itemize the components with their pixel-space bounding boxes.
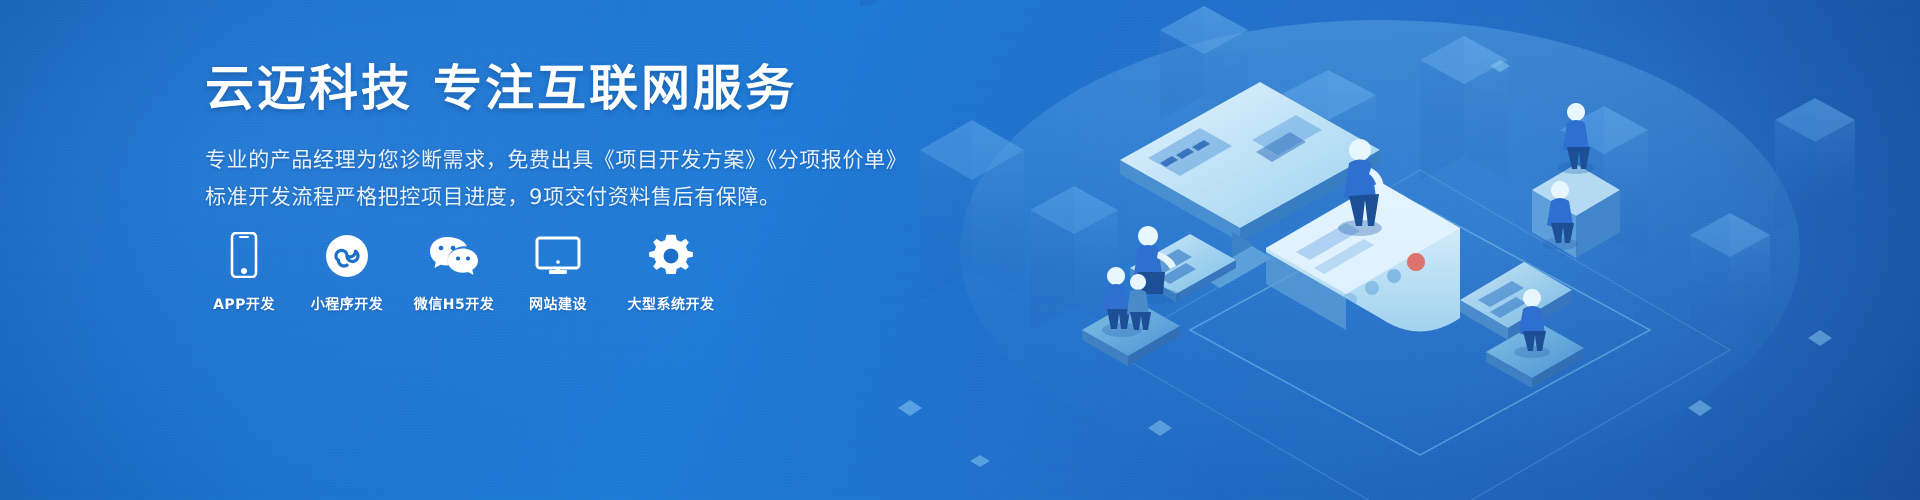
hero-banner: 云迈科技 专注互联网服务 专业的产品经理为您诊断需求，免费出具《项目开发方案》《… <box>0 0 1920 500</box>
mini-program-icon <box>325 232 369 278</box>
service-label: 大型系统开发 <box>628 294 715 314</box>
mobile-phone-icon <box>230 232 258 278</box>
service-item-mini-program[interactable]: 小程序开发 <box>305 232 389 314</box>
isometric-business-analytics-illustration <box>860 0 1920 500</box>
gear-icon <box>649 232 693 278</box>
subtitle-line-2: 标准开发流程严格把控项目进度，9项交付资料售后有保障。 <box>205 179 965 216</box>
subtitle-line-1: 专业的产品经理为您诊断需求，免费出具《项目开发方案》《分项报价单》 <box>205 142 965 179</box>
monitor-icon <box>535 232 581 278</box>
service-item-wechat-h5[interactable]: 微信H5开发 <box>411 232 497 314</box>
hero-copy: 云迈科技 专注互联网服务 专业的产品经理为您诊断需求，免费出具《项目开发方案》《… <box>205 62 965 217</box>
service-label: APP开发 <box>213 294 275 314</box>
service-list: APP开发 小程序开发 <box>205 232 723 314</box>
service-label: 网站建设 <box>529 294 587 314</box>
service-item-app[interactable]: APP开发 <box>205 232 283 314</box>
page-title: 云迈科技 专注互联网服务 <box>205 62 965 116</box>
service-label: 小程序开发 <box>311 294 384 314</box>
wechat-icon <box>428 232 480 278</box>
hero-subtitle: 专业的产品经理为您诊断需求，免费出具《项目开发方案》《分项报价单》 标准开发流程… <box>205 142 965 217</box>
service-item-website[interactable]: 网站建设 <box>519 232 597 314</box>
service-item-large-system[interactable]: 大型系统开发 <box>619 232 723 314</box>
service-label: 微信H5开发 <box>414 294 494 314</box>
